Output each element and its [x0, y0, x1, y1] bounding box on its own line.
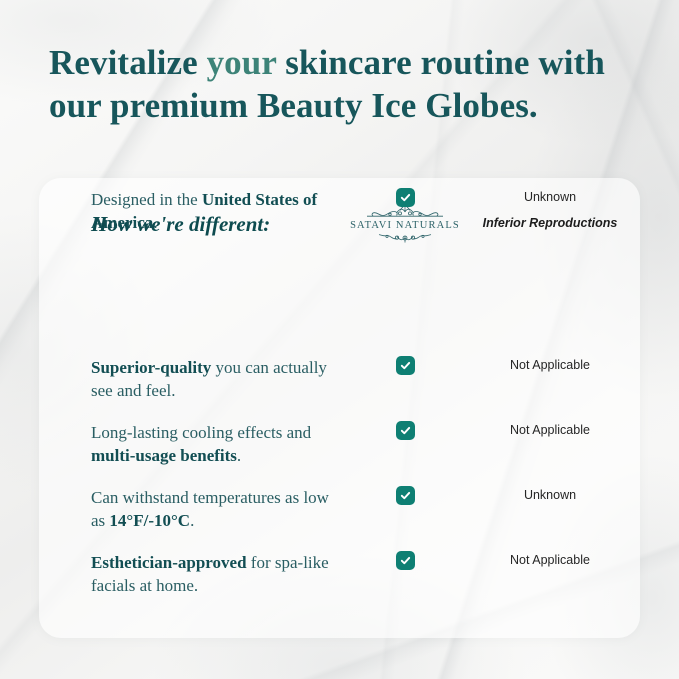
table-row: Superior-quality you can actually see an…: [39, 346, 640, 411]
feature-description: Superior-quality you can actually see an…: [91, 356, 341, 403]
check-mark-icon: [396, 421, 415, 440]
competitor-value: Unknown: [480, 190, 620, 204]
competitor-value: Not Applicable: [480, 358, 620, 372]
competitor-value: Unknown: [480, 488, 620, 502]
feature-description: Can withstand temperatures as low as 14°…: [91, 486, 341, 533]
table-row: Esthetician-approved for spa-like facial…: [39, 541, 640, 606]
feature-description: Esthetician-approved for spa-like facial…: [91, 551, 341, 598]
check-mark-icon: [396, 188, 415, 207]
headline-accent-word: your: [207, 43, 277, 82]
check-mark-icon: [396, 551, 415, 570]
headline-part-1: Revitalize: [49, 43, 207, 82]
table-row: Designed in the United States of America…: [39, 178, 640, 243]
satavi-value-cell: [350, 486, 460, 505]
table-row: Long-lasting cooling effects and multi-u…: [39, 411, 640, 476]
check-mark-icon: [396, 356, 415, 375]
check-mark-icon: [396, 486, 415, 505]
competitor-value: Not Applicable: [480, 553, 620, 567]
table-row: Can withstand temperatures as low as 14°…: [39, 476, 640, 541]
competitor-value: Not Applicable: [480, 423, 620, 437]
satavi-value-cell: [350, 356, 460, 375]
feature-description: Designed in the United States of America…: [91, 188, 341, 235]
page-headline: Revitalize your skincare routine with ou…: [49, 42, 649, 127]
feature-description: Long-lasting cooling effects and multi-u…: [91, 421, 341, 468]
comparison-card: How we're different:: [39, 178, 640, 638]
satavi-value-cell: [350, 421, 460, 440]
satavi-value-cell: [350, 551, 460, 570]
satavi-value-cell: [350, 188, 460, 207]
